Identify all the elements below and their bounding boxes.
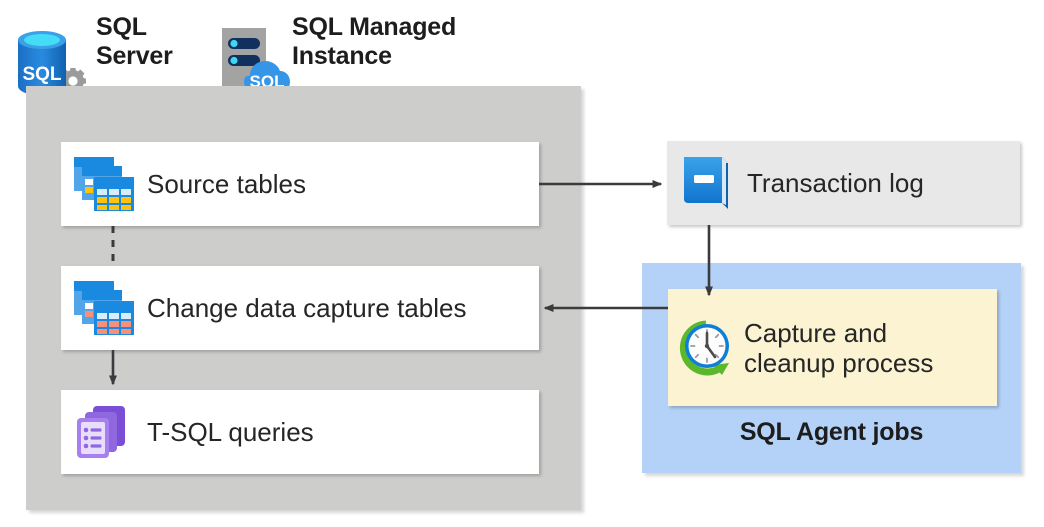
connector-layer	[0, 0, 1044, 527]
diagram-canvas: SQL SQL Server SQL SQL Managed Instance	[0, 0, 1044, 527]
